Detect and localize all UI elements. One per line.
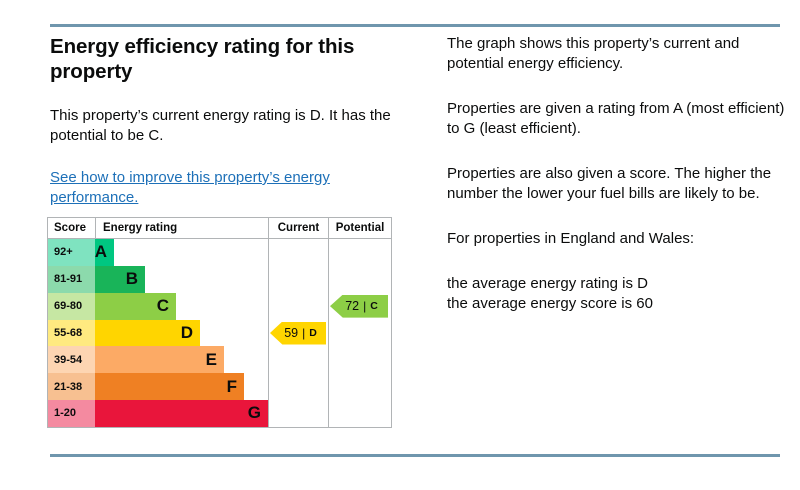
column-header-potential: Potential [328, 218, 391, 238]
column-header-current: Current [268, 218, 328, 238]
band-score-range: 1-20 [48, 400, 95, 427]
band-row: 21-38 F [48, 373, 268, 400]
potential-score-value: 72 [345, 299, 359, 313]
band-row: 39-54 E [48, 346, 268, 373]
bottom-divider [50, 454, 780, 457]
potential-rating-column: 72 | C [329, 239, 391, 427]
band-letter: G [95, 400, 268, 427]
band-letter: D [95, 320, 200, 347]
current-separator: | [302, 326, 305, 340]
average-energy-rating: the average energy rating is D [447, 274, 792, 294]
current-rating-column: 59 | D [269, 239, 328, 427]
band-score-range: 69-80 [48, 293, 95, 320]
band-letter: A [95, 239, 114, 266]
explainer-rating-scale: Properties are given a rating from A (mo… [447, 99, 792, 139]
band-letter: C [95, 293, 176, 320]
improve-performance-link[interactable]: See how to improve this property’s energ… [50, 168, 400, 208]
band-score-range: 39-54 [48, 346, 95, 373]
column-header-score: Score [48, 218, 95, 238]
column-header-energy-rating: Energy rating [95, 218, 268, 238]
band-row: 69-80 C [48, 293, 268, 320]
band-score-range: 21-38 [48, 373, 95, 400]
potential-rating-badge: 72 | C [330, 295, 388, 318]
band-letter: E [95, 346, 224, 373]
epc-body: 92+ A 81-91 B 69-80 C 55-68 D 39-54 E [48, 239, 391, 427]
band-row: 55-68 D [48, 320, 268, 347]
band-row: 81-91 B [48, 266, 268, 293]
average-energy-score: the average energy score is 60 [447, 294, 792, 314]
band-letter: F [95, 373, 244, 400]
left-column: Energy efficiency rating for this proper… [50, 34, 400, 208]
page-title: Energy efficiency rating for this proper… [50, 34, 400, 84]
epc-header-row: Score Energy rating Current Potential [48, 218, 391, 239]
band-score-range: 55-68 [48, 320, 95, 347]
potential-separator: | [363, 299, 366, 313]
band-row: 92+ A [48, 239, 268, 266]
epc-bands: 92+ A 81-91 B 69-80 C 55-68 D 39-54 E [48, 239, 268, 427]
band-score-range: 81-91 [48, 266, 95, 293]
current-rating-summary: This property’s current energy rating is… [50, 106, 400, 146]
explainer-score: Properties are also given a score. The h… [447, 164, 792, 204]
epc-rating-chart: Score Energy rating Current Potential 92… [47, 217, 392, 428]
explainer-graph: The graph shows this property’s current … [447, 34, 792, 74]
top-divider [50, 24, 780, 27]
current-rating-badge: 59 | D [270, 322, 326, 345]
explainer-region: For properties in England and Wales: [447, 229, 792, 249]
current-score-value: 59 [284, 326, 298, 340]
energy-performance-certificate-page: Energy efficiency rating for this proper… [0, 0, 800, 490]
band-letter: B [95, 266, 145, 293]
current-grade-letter: D [309, 327, 317, 339]
right-column: The graph shows this property’s current … [447, 34, 792, 314]
potential-grade-letter: C [370, 300, 378, 312]
band-score-range: 92+ [48, 239, 95, 266]
band-row: 1-20 G [48, 400, 268, 427]
